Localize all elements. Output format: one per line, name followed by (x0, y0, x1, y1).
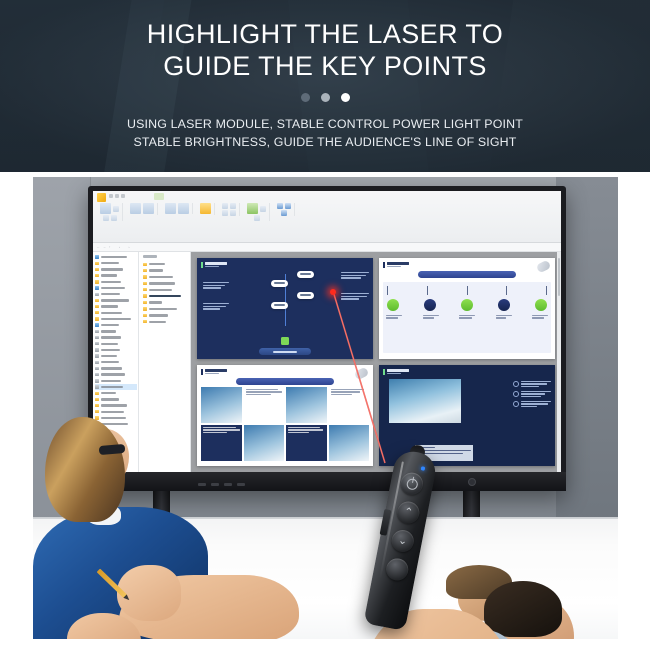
timeline-pill (271, 302, 288, 309)
drive-d-icon (95, 379, 99, 382)
qa-save-icon[interactable] (109, 194, 113, 198)
view-layout-icon[interactable] (277, 203, 283, 209)
grid-caption-dark (201, 425, 242, 461)
ribbon-tab-2[interactable] (137, 193, 146, 200)
chevron-down-icon: ⌄ (397, 535, 408, 548)
desktop-icon (95, 336, 99, 339)
explorer-body (93, 252, 561, 472)
select-all-icon[interactable] (247, 203, 258, 214)
slide-title (383, 262, 551, 268)
ocean-bullets (513, 381, 551, 407)
onedrive-icon (95, 323, 99, 326)
timeline-end-node (281, 337, 289, 345)
view-options-icon[interactable] (281, 210, 287, 216)
man-front-hair (484, 581, 562, 637)
process-panel (383, 282, 551, 353)
folder-icon (95, 392, 99, 395)
folder-icon (143, 314, 147, 317)
ribbon-groups (97, 203, 557, 240)
slide-process-white[interactable] (379, 258, 555, 359)
new-folder-icon[interactable] (200, 203, 211, 214)
display-power-indicator (468, 478, 476, 486)
chevron-up-icon: ⌃ (403, 506, 414, 519)
list-column-header[interactable] (143, 255, 157, 258)
scrollbar-thumb[interactable] (558, 258, 561, 296)
bullet-icon (513, 381, 519, 387)
breadcrumb-segment-1[interactable] (114, 245, 117, 249)
folder-icon (143, 320, 147, 323)
breadcrumb[interactable]: ← → ↑ › › (93, 243, 561, 252)
folder-icon (95, 311, 99, 314)
hero-title-line-2: GUIDE THE KEY POINTS (60, 50, 590, 82)
grid-caption (244, 387, 285, 423)
properties-icon[interactable] (222, 203, 228, 209)
hero-subtitle-line-2: STABLE BRIGHTNESS, GUIDE THE AUDIENCE'S … (127, 133, 523, 151)
file-list-pane[interactable] (139, 252, 191, 472)
copy-icon[interactable] (103, 215, 109, 221)
move-to-icon[interactable] (130, 203, 141, 214)
slide-photo-grid[interactable] (197, 365, 373, 466)
laser-dot (330, 289, 336, 295)
folder-icon (95, 398, 99, 401)
process-circle-green (387, 299, 399, 311)
ribbon-group-new[interactable] (197, 203, 215, 215)
copy-to-icon[interactable] (143, 203, 154, 214)
folder-icon (95, 305, 99, 308)
process-circle-green (535, 299, 547, 311)
laser-icon (405, 477, 418, 490)
timeline-pill (297, 271, 314, 278)
carousel-dots[interactable] (301, 93, 350, 102)
process-circle-navy (498, 299, 510, 311)
this-pc-icon (95, 293, 99, 296)
photo-grid (201, 387, 369, 461)
hero-subtitle-line-1: USING LASER MODULE, STABLE CONTROL POWER… (127, 115, 523, 133)
process-circle-green (461, 299, 473, 311)
quick-access-icon (95, 255, 99, 258)
folder-icon (143, 301, 147, 304)
cut-icon[interactable] (113, 206, 119, 212)
slide-pane-scrollbar[interactable] (557, 252, 561, 472)
display-port-row (198, 483, 245, 486)
folder-icon (143, 288, 147, 291)
folder-icon (95, 274, 99, 277)
documents-icon (95, 342, 99, 345)
hero-subtitle: USING LASER MODULE, STABLE CONTROL POWER… (127, 115, 523, 151)
process-circles (387, 299, 547, 311)
ocean-photo (389, 379, 461, 423)
chevron-right-icon-2: › (129, 245, 130, 249)
folder-icon (95, 317, 99, 320)
ribbon-group-organize[interactable] (127, 203, 158, 215)
bullet-icon (513, 391, 519, 397)
folder-icon (143, 269, 147, 272)
bullet-icon (513, 401, 519, 407)
title-accent-bar (383, 369, 385, 375)
ribbon-group-select[interactable] (244, 203, 270, 221)
folder-icon (95, 410, 99, 413)
process-circle-navy (424, 299, 436, 311)
timeline-text (341, 293, 369, 300)
ribbon-tab-4[interactable] (171, 193, 180, 200)
display-screen: ← → ↑ › › (93, 191, 561, 472)
this-pc-icon (95, 330, 99, 333)
back-icon[interactable]: ← (97, 245, 100, 249)
folder-icon (143, 263, 147, 266)
folder-icon (143, 294, 147, 297)
ribbon-group-view[interactable] (274, 203, 295, 216)
remote-led-indicator (421, 466, 425, 470)
slide-cta-button (259, 348, 311, 355)
grid-caption (329, 387, 370, 423)
slide-title (201, 369, 369, 375)
ribbon-group-clipboard[interactable] (97, 203, 123, 221)
hero-title-line-1: HIGHLIGHT THE LASER TO (60, 18, 590, 50)
folder-icon (95, 262, 99, 265)
product-photo: ← → ↑ › › (33, 177, 618, 639)
title-accent-bar (383, 262, 385, 268)
folder-icon (143, 307, 147, 310)
invert-selection-icon[interactable] (254, 215, 260, 221)
slide-timeline-dark[interactable] (197, 258, 373, 359)
folder-icon (95, 268, 99, 271)
list-item[interactable] (143, 319, 188, 325)
hero-title: HIGHLIGHT THE LASER TO GUIDE THE KEY POI… (60, 18, 590, 82)
grid-photo (286, 387, 327, 423)
music-icon (95, 354, 99, 357)
timeline-text (203, 303, 229, 310)
drive-c-icon (95, 373, 99, 376)
grid-caption-dark (286, 425, 327, 461)
display-bottom-bezel (88, 472, 566, 491)
grid-photo (329, 425, 370, 461)
folder-icon (143, 282, 147, 285)
wall-display: ← → ↑ › › (88, 186, 566, 491)
slide-title (201, 262, 369, 268)
page-root: HIGHLIGHT THE LASER TO GUIDE THE KEY POI… (0, 0, 650, 650)
history-icon[interactable] (230, 210, 236, 216)
ribbon-tab-1[interactable] (121, 193, 130, 200)
slide-title (383, 369, 551, 375)
videos-icon (95, 361, 99, 364)
view-sort-icon[interactable] (285, 203, 291, 209)
carousel-dot-2[interactable] (321, 93, 330, 102)
woman-fist (117, 565, 181, 621)
forward-icon[interactable]: → (103, 245, 106, 249)
folder-icon (95, 280, 99, 283)
edit-icon[interactable] (222, 210, 228, 216)
grid-photo (244, 425, 285, 461)
select-none-icon[interactable] (260, 206, 266, 212)
slide-thumbnail-pane (191, 252, 561, 472)
rename-icon[interactable] (178, 203, 189, 214)
title-accent-bar (201, 369, 203, 375)
pictures-icon (95, 348, 99, 351)
windows-desktop: ← → ↑ › › (93, 191, 561, 472)
ribbon-group-open[interactable] (219, 203, 240, 216)
qa-undo-icon[interactable] (115, 194, 119, 198)
paste-icon[interactable] (100, 203, 111, 214)
chevron-right-icon: › (119, 245, 120, 249)
format-painter-icon[interactable] (111, 215, 117, 221)
folder-icon (95, 299, 99, 302)
open-icon[interactable] (230, 203, 236, 209)
office-ribbon (93, 191, 561, 243)
hero-banner: HIGHLIGHT THE LASER TO GUIDE THE KEY POI… (0, 0, 650, 172)
breadcrumb-segment-2[interactable] (123, 245, 126, 249)
carousel-dot-3-active[interactable] (341, 93, 350, 102)
ribbon-group-delete[interactable] (162, 203, 193, 214)
grid-photo (201, 387, 242, 423)
process-stems (387, 286, 547, 295)
slide-banner (236, 378, 333, 385)
app-logo-icon (97, 193, 106, 202)
ribbon-tab-bar[interactable] (121, 193, 180, 200)
timeline-text (203, 282, 229, 289)
timeline-pill (271, 280, 288, 287)
timeline-text (341, 272, 369, 279)
folder-icon (143, 275, 147, 278)
delete-icon[interactable] (165, 203, 176, 214)
timeline-pill (297, 292, 314, 299)
onedrive-icon (95, 286, 99, 289)
slide-banner (418, 271, 515, 278)
folder-icon (95, 404, 99, 407)
carousel-dot-1[interactable] (301, 93, 310, 102)
ribbon-tab-3-active[interactable] (154, 193, 164, 200)
process-captions (386, 315, 548, 319)
title-accent-bar (201, 262, 203, 268)
up-icon[interactable]: ↑ (109, 245, 111, 249)
drive-e-icon (95, 385, 99, 388)
downloads-icon (95, 367, 99, 370)
